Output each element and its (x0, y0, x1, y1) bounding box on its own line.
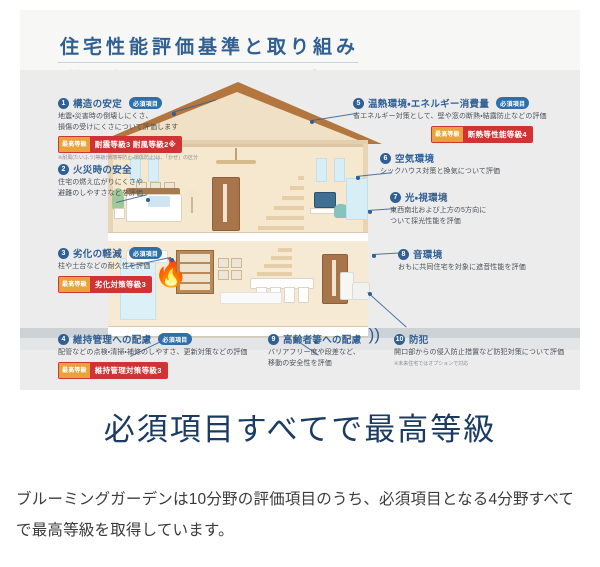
infographic-card: 住宅性能評価基準と取り組み 住宅性能表示基準には、10分野の評価項目があり、その… (20, 10, 580, 390)
required-badge-1: 必須項目 (129, 97, 162, 109)
callout-6: 6 空気環境 シックハウス対策と換気について評価 (380, 151, 570, 178)
title-divider (58, 62, 358, 63)
wall-picture-e (231, 258, 242, 268)
callout-2-desc: 住宅の燃え広がりにくさや 避難のしやすさなどを評価 (58, 178, 198, 199)
floor-lamp-stand (191, 197, 193, 213)
callout-5-head: 5 温熱環境・エネルギー消費量 必須項目 (353, 96, 568, 110)
callout-3-title: 劣化の軽減 (73, 246, 122, 260)
window-2f-c (316, 158, 327, 182)
callout-5-desc: 省エネルギー対策として、壁や窓の断熱・結露防止などの評価 (353, 112, 568, 123)
callout-5-grade: 最高等級 断熱等性能等級4 (431, 126, 533, 143)
staircase-upper-icon (258, 172, 304, 230)
grade-tag-4: 最高等級 (59, 363, 90, 378)
callout-10-note: ※未来住宅ではオプションで対応 (394, 361, 569, 368)
callout-1-desc: 地震・災害時の倒壊しにくさ、 損傷の受けにくさについて評価します (58, 112, 208, 133)
callout-4-number: 4 (58, 334, 69, 345)
callout-4-grade: 最高等級 維持管理対策等級3 (58, 362, 168, 379)
callout-1-head: 1 構造の安定 必須項目 (58, 96, 208, 110)
page-headline: 必須項目すべてで最高等級 (0, 404, 600, 449)
callout-3: 3 劣化の軽減 必須項目 柱や土台などの耐久性を評価 最高等級 劣化対策等級3 (58, 246, 208, 293)
grade-tag-3: 最高等級 (59, 277, 90, 292)
grade-value-3: 劣化対策等級3 (90, 277, 151, 292)
infographic-title: 住宅性能評価基準と取り組み (60, 32, 359, 59)
callout-9: 9 高齢者等への配慮 バリアフリー度や段差など、 移動の安全性を評価 (268, 332, 393, 369)
window-2f-right (346, 178, 368, 220)
required-badge-5: 必須項目 (496, 97, 529, 109)
callout-3-desc: 柱や土台などの耐久性を評価 (58, 262, 208, 273)
monitor-icon (314, 192, 336, 208)
ceiling-fan-rod (235, 148, 237, 160)
callout-8-desc: おもに共同住宅を対象に遮音性能を評価 (398, 263, 578, 274)
callout-8-number: 8 (398, 249, 409, 260)
callout-1-number: 1 (58, 98, 69, 109)
page-body-text: ブルーミングガーデンは10分野の評価項目のうち、必須項目となる4分野すべてで最高… (16, 484, 584, 546)
callout-7-title: 光・視環境 (405, 190, 448, 204)
entrance-floor (220, 292, 282, 304)
callout-9-number: 9 (268, 334, 279, 345)
grade-tag-5: 最高等級 (432, 127, 463, 142)
ceiling-fan-icon (216, 160, 256, 164)
stool-c (284, 287, 295, 303)
callout-2-head: 2 火災時の安全 (58, 162, 198, 176)
callout-4-head: 4 維持管理への配慮 必須項目 (58, 332, 258, 346)
callout-1: 1 構造の安定 必須項目 地震・災害時の倒壊しにくさ、 損傷の受けにくさについて… (58, 96, 208, 162)
callout-10-number: 10 (394, 334, 405, 345)
callout-3-head: 3 劣化の軽減 必須項目 (58, 246, 208, 260)
callout-5: 5 温熱環境・エネルギー消費量 必須項目 省エネルギー対策として、壁や窓の断熱・… (353, 96, 568, 143)
callout-2-title: 火災時の安全 (73, 162, 132, 176)
callout-6-title: 空気環境 (395, 151, 434, 165)
wall-picture-f (218, 270, 229, 280)
plant-pot (114, 208, 125, 219)
callout-6-number: 6 (380, 153, 391, 164)
required-badge-3: 必須項目 (129, 247, 162, 259)
wall-picture-g (231, 270, 242, 280)
callout-1-grade: 最高等級 耐震等級3 耐風等級2※ (58, 136, 182, 153)
callout-10: 10 防犯 開口部からの侵入防止措置など防犯対策について評価 ※未来住宅ではオプ… (394, 332, 569, 368)
callout-6-head: 6 空気環境 (380, 151, 570, 165)
window-2f-d (334, 158, 345, 182)
callout-6-desc: シックハウス対策と換気について評価 (380, 167, 570, 178)
callout-7: 7 光・視環境 東西南北および上方の5方向に ついて採光性能を評価 (390, 190, 570, 227)
callout-8-head: 8 音環境 (398, 247, 578, 261)
callout-9-head: 9 高齢者等への配慮 (268, 332, 393, 346)
callout-8-title: 音環境 (413, 247, 442, 261)
door-2f-icon (212, 177, 240, 231)
grade-tag-1: 最高等級 (59, 137, 90, 152)
callout-2-number: 2 (58, 164, 69, 175)
page-root: 住宅性能評価基準と取り組み 住宅性能表示基準には、10分野の評価項目があり、その… (0, 0, 600, 567)
callout-5-number: 5 (353, 98, 364, 109)
callout-10-head: 10 防犯 (394, 332, 569, 346)
callout-3-number: 3 (58, 248, 69, 259)
callout-3-grade: 最高等級 劣化対策等級3 (58, 276, 152, 293)
callout-2: 2 火災時の安全 住宅の燃え広がりにくさや 避難のしやすさなどを評価 (58, 162, 198, 199)
callout-9-title: 高齢者等への配慮 (283, 332, 361, 346)
callout-5-title: 温熱環境・エネルギー消費量 (368, 96, 489, 110)
callout-4-title: 維持管理への配慮 (73, 332, 151, 346)
callout-10-desc: 開口部からの侵入防止措置など防犯対策について評価 (394, 348, 569, 359)
grade-value-5: 断熱等性能等級4 (463, 127, 532, 142)
callout-1-note: ※耐風(たいふう)等級(倒壊等防止・損傷防止)は、「かぜ」の区分 (58, 155, 208, 162)
callout-4-desc: 配管などの点検・清掃・補修のしやすさ、更新対策などの評価 (58, 348, 258, 359)
stool-d (298, 287, 309, 303)
leader-line-10 (367, 292, 406, 328)
callout-1-title: 構造の安定 (73, 96, 122, 110)
wall-picture-d (218, 258, 229, 268)
grade-value-1: 耐震等級3 耐風等級2※ (90, 137, 181, 152)
callout-7-head: 7 光・視環境 (390, 190, 570, 204)
callout-8: 8 音環境 おもに共同住宅を対象に遮音性能を評価 (398, 247, 578, 274)
callout-10-title: 防犯 (409, 332, 429, 346)
required-badge-4: 必須項目 (158, 333, 191, 345)
callout-9-desc: バリアフリー度や段差など、 移動の安全性を評価 (268, 348, 393, 369)
grade-value-4: 維持管理対策等級3 (90, 363, 167, 378)
callout-7-desc: 東西南北および上方の5方向に ついて採光性能を評価 (390, 206, 570, 227)
leader-line-8 (372, 253, 400, 255)
callout-4: 4 維持管理への配慮 必須項目 配管などの点検・清掃・補修のしやすさ、更新対策な… (58, 332, 258, 379)
callout-7-number: 7 (390, 192, 401, 203)
